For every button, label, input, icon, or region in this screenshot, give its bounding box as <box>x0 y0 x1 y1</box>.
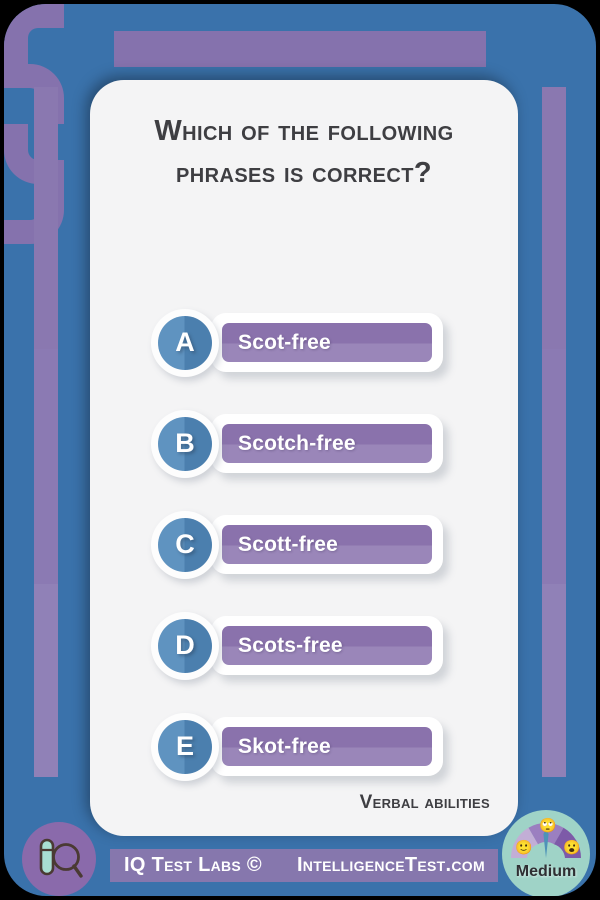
option-text-d: Scots-free <box>222 626 432 665</box>
option-badge-a[interactable]: A <box>151 309 219 377</box>
gauge-emoji-medium: 🙄 <box>539 818 556 832</box>
option-pill-b[interactable]: Scotch-free <box>211 414 443 473</box>
option-pill-d[interactable]: Scots-free <box>211 616 443 675</box>
answer-option-a[interactable]: A Scot-free <box>90 292 518 393</box>
decorative-right-bar <box>542 87 566 777</box>
iq-question-card: Which of the following phrases is correc… <box>0 0 600 900</box>
option-letter-c: C <box>158 518 212 572</box>
option-text-e: Skot-free <box>222 727 432 766</box>
option-text-b: Scotch-free <box>222 424 432 463</box>
option-pill-a[interactable]: Scot-free <box>211 313 443 372</box>
iq-test-labs-logo <box>22 822 96 896</box>
decorative-top-bar <box>114 31 486 67</box>
category-label: Verbal abilities <box>360 792 490 814</box>
difficulty-gauge: 🙂 🙄 😮 Medium <box>502 810 590 896</box>
answer-options-list: A Scot-free B Scotch-free <box>90 292 518 797</box>
option-pill-c[interactable]: Scott-free <box>211 515 443 574</box>
difficulty-level-label: Medium <box>502 863 590 881</box>
option-pill-e[interactable]: Skot-free <box>211 717 443 776</box>
gauge-emoji-easy: 🙂 <box>515 840 532 854</box>
decorative-left-bar <box>34 87 58 777</box>
option-text-a: Scot-free <box>222 323 432 362</box>
option-letter-b: B <box>158 417 212 471</box>
option-letter-d: D <box>158 619 212 673</box>
gauge-emoji-hard: 😮 <box>563 840 580 854</box>
gauge-needle <box>543 829 548 858</box>
option-letter-e: E <box>158 720 212 774</box>
decorative-corner-top-left <box>4 4 64 64</box>
option-letter-a: A <box>158 316 212 370</box>
option-badge-c[interactable]: C <box>151 511 219 579</box>
footer-brand-text: IQ Test Labs © <box>124 854 262 877</box>
option-text-c: Scott-free <box>222 525 432 564</box>
footer-site-text[interactable]: IntelligenceTest.com <box>297 854 485 877</box>
option-badge-e[interactable]: E <box>151 713 219 781</box>
footer-brand-bar: IQ Test Labs © IntelligenceTest.com <box>110 849 498 882</box>
answer-option-d[interactable]: D Scots-free <box>90 595 518 696</box>
question-title: Which of the following phrases is correc… <box>124 110 484 194</box>
option-badge-d[interactable]: D <box>151 612 219 680</box>
answer-option-b[interactable]: B Scotch-free <box>90 393 518 494</box>
question-panel: Which of the following phrases is correc… <box>90 80 518 836</box>
answer-option-c[interactable]: C Scott-free <box>90 494 518 595</box>
answer-option-e[interactable]: E Skot-free <box>90 696 518 797</box>
option-badge-b[interactable]: B <box>151 410 219 478</box>
card-frame: Which of the following phrases is correc… <box>4 4 596 896</box>
test-tube-magnifier-icon <box>33 833 85 885</box>
